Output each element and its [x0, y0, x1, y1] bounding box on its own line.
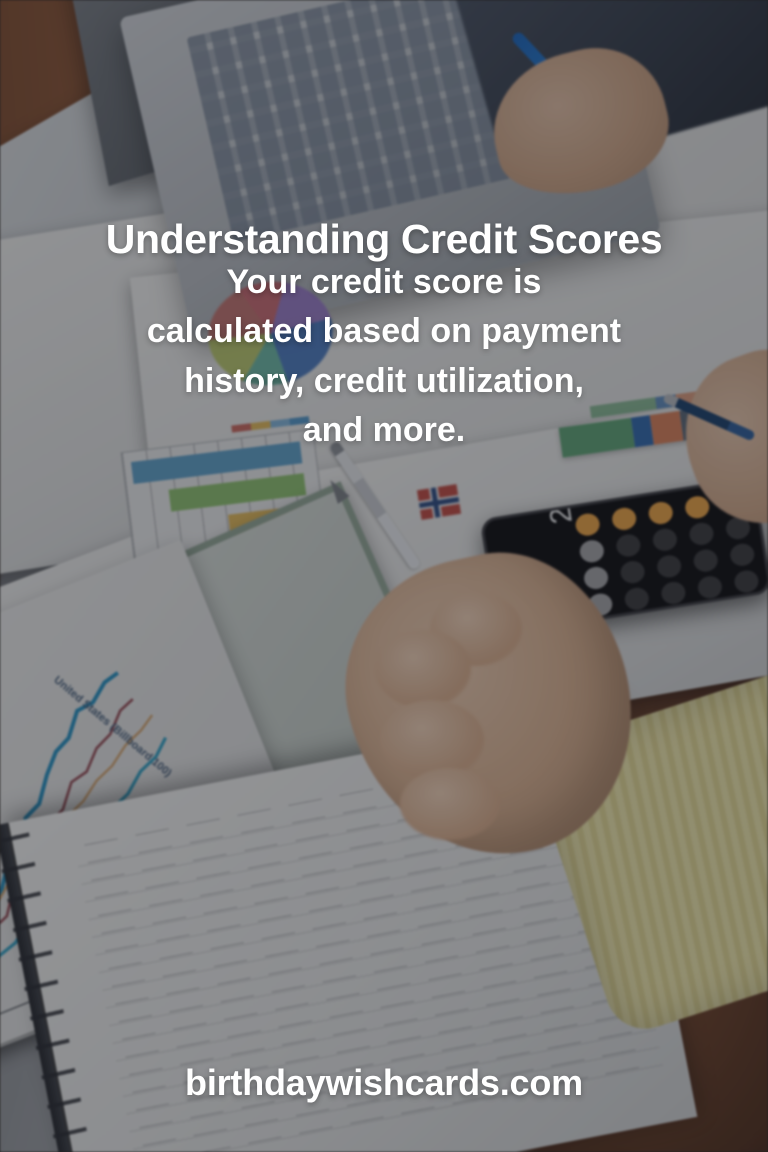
dark-overlay: [0, 0, 768, 1152]
social-card: United States (Billboard 100) Netherland…: [0, 0, 768, 1152]
